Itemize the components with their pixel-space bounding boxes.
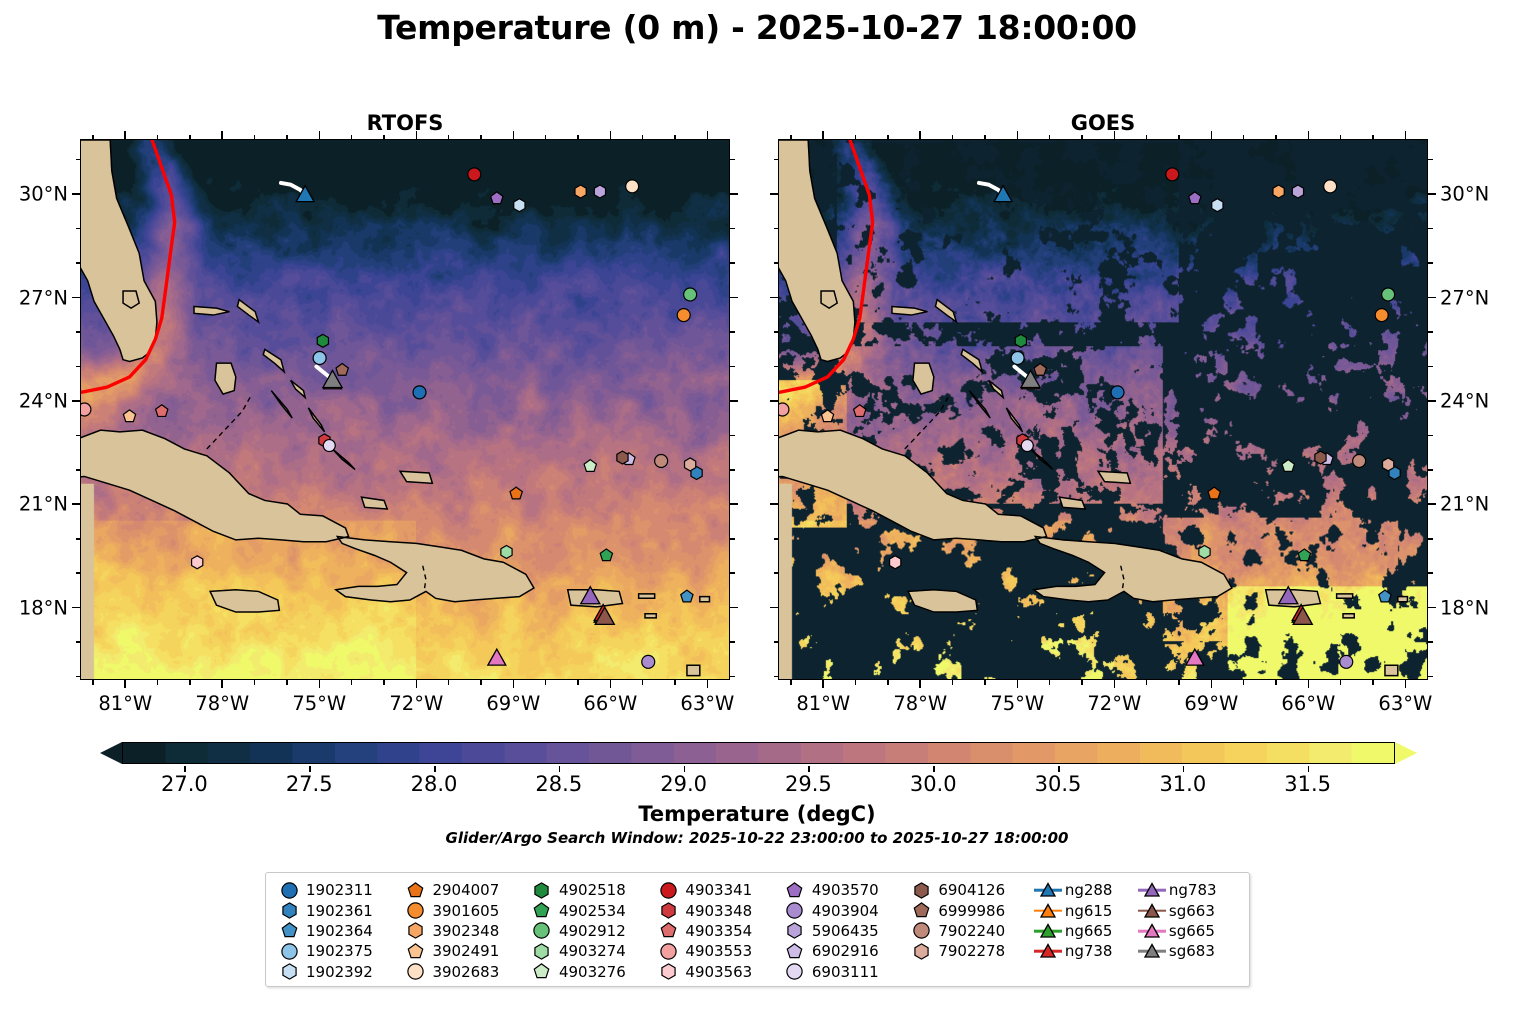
legend-item-1902361[interactable]: 1902361 <box>274 900 400 920</box>
legend-label-sg665: sg665 <box>1167 922 1215 940</box>
legend-column-argo-3: 49033414903348490335449035534903563 <box>653 880 779 982</box>
legend-label-ng783: ng783 <box>1167 881 1217 899</box>
triangle-marker-icon <box>1039 881 1057 899</box>
lat-tick-label-right: 21°N <box>1440 493 1489 516</box>
lon-tick <box>707 680 709 688</box>
argo-marker-4903563[interactable] <box>192 556 203 569</box>
legend-label-4903904: 4903904 <box>810 902 879 920</box>
lon-tick-top <box>642 135 644 140</box>
legend-label-1902392: 1902392 <box>304 963 373 981</box>
lat-tick-label-left: 18°N <box>0 596 68 619</box>
legend-symbol-1902311 <box>274 880 304 900</box>
legend-item-1902392[interactable]: 1902392 <box>274 962 400 982</box>
lat-tick-right <box>1428 572 1433 574</box>
argo-marker-6904126[interactable] <box>617 451 628 464</box>
circle-marker-icon <box>785 962 804 981</box>
legend-item-ng288[interactable]: ng288 <box>1033 880 1137 900</box>
colorbar-tick-label: 29.5 <box>785 772 832 796</box>
argo-marker-7902278[interactable] <box>1383 458 1394 471</box>
hexagon-marker-icon <box>659 901 678 920</box>
lon-tick <box>610 680 612 688</box>
lon-tick-top <box>286 135 288 140</box>
legend-label-6904126: 6904126 <box>936 881 1005 899</box>
legend-item-4903274[interactable]: 4903274 <box>527 941 653 961</box>
argo-marker-3902348[interactable] <box>575 185 586 198</box>
coastline-andros <box>913 363 934 394</box>
legend-symbol-5906435 <box>780 921 810 941</box>
argo-marker-4903904[interactable] <box>1340 655 1353 668</box>
legend-symbol-7902240 <box>906 921 936 941</box>
lat-tick <box>76 572 81 574</box>
argo-marker-4903570[interactable] <box>491 192 503 204</box>
legend-item-4903354[interactable]: 4903354 <box>653 921 779 941</box>
legend-column-argo-5: 6904126699998679022407902278 <box>906 880 1032 962</box>
coastline-exuma <box>271 391 292 418</box>
argo-marker-4903274[interactable] <box>1199 545 1210 558</box>
argo-marker-4903553[interactable] <box>779 403 789 416</box>
legend-item-sg665[interactable]: sg665 <box>1137 921 1241 941</box>
figure-title: Temperature (0 m) - 2025-10-27 18:00:00 <box>0 8 1514 47</box>
legend-item-4903904[interactable]: 4903904 <box>780 900 906 920</box>
lat-tick-right <box>1428 607 1436 609</box>
colorbar-tick-label: 30.0 <box>910 772 957 796</box>
argo-marker-4902912[interactable] <box>684 288 697 301</box>
lon-tick <box>480 680 482 685</box>
lon-tick-top <box>416 131 418 139</box>
legend-item-6902916[interactable]: 6902916 <box>780 941 906 961</box>
colorbar <box>100 740 1417 766</box>
legend-label-4903553: 4903553 <box>683 942 752 960</box>
argo-marker-3902348[interactable] <box>1273 185 1284 198</box>
legend-symbol-4903341 <box>653 880 683 900</box>
lon-tick <box>577 680 579 685</box>
legend-item-ng783[interactable]: ng783 <box>1137 880 1241 900</box>
triangle-marker-icon <box>1143 922 1161 940</box>
lon-tick <box>1146 680 1148 685</box>
coastline-grandbahama <box>194 306 229 315</box>
argo-marker-3902491[interactable] <box>123 410 135 422</box>
lat-tick <box>770 400 778 402</box>
lon-tick-top <box>855 135 857 140</box>
legend[interactable]: 1902311190236119023641902375190239229040… <box>265 872 1250 987</box>
legend-label-4903570: 4903570 <box>810 881 879 899</box>
lat-tick <box>770 193 778 195</box>
glider-marker-sg665[interactable] <box>1186 649 1204 665</box>
legend-symbol-4903563 <box>653 962 683 982</box>
coastline-inagua <box>1059 497 1085 509</box>
hexagon-marker-icon <box>659 962 678 981</box>
lon-tick <box>1372 680 1374 685</box>
lon-tick-top <box>448 135 450 140</box>
legend-label-sg683: sg683 <box>1167 942 1215 960</box>
coastline-vi <box>639 594 655 598</box>
argo-marker-1902392[interactable] <box>514 199 525 212</box>
lon-tick-top <box>189 135 191 140</box>
legend-label-6902916: 6902916 <box>810 942 879 960</box>
coastline-abaco <box>935 300 956 322</box>
lat-tick-label-left: 27°N <box>0 286 68 309</box>
lon-tick-label: 72°W <box>389 692 443 715</box>
legend-item-3902491[interactable]: 3902491 <box>400 941 526 961</box>
legend-symbol-6904126 <box>906 880 936 900</box>
argo-marker-4902912[interactable] <box>1382 288 1395 301</box>
legend-label-6903111: 6903111 <box>810 963 879 981</box>
argo-marker-7902278[interactable] <box>685 458 696 471</box>
legend-item-sg683[interactable]: sg683 <box>1137 941 1241 961</box>
argo-marker-1902311[interactable] <box>413 386 426 399</box>
pentagon-marker-icon <box>785 942 804 961</box>
legend-symbol-2904007 <box>400 880 430 900</box>
argo-marker-3902683[interactable] <box>626 180 639 193</box>
colorbar-tick-label: 28.0 <box>411 772 458 796</box>
legend-item-sg663[interactable]: sg663 <box>1137 900 1241 920</box>
lat-tick-right <box>730 676 735 678</box>
argo-marker-4903570[interactable] <box>1189 192 1201 204</box>
legend-symbol-4903274 <box>527 941 557 961</box>
legend-label-6999986: 6999986 <box>936 902 1005 920</box>
argo-marker-4903276[interactable] <box>1282 460 1294 472</box>
pentagon-marker-icon <box>912 901 931 920</box>
colorbar-tick-label: 27.0 <box>161 772 208 796</box>
legend-item-4902534[interactable]: 4902534 <box>527 900 653 920</box>
legend-label-4903276: 4903276 <box>557 963 626 981</box>
lon-tick-label: 69°W <box>1184 692 1238 715</box>
lat-tick-right <box>1428 297 1436 299</box>
legend-item-6999986[interactable]: 6999986 <box>906 900 1032 920</box>
pentagon-marker-icon <box>280 921 299 940</box>
lon-tick-top <box>221 131 223 139</box>
legend-symbol-4903354 <box>653 921 683 941</box>
lon-tick-top <box>383 135 385 140</box>
lat-tick <box>774 641 779 643</box>
hexagon-marker-icon <box>532 942 551 961</box>
legend-item-7902240[interactable]: 7902240 <box>906 921 1032 941</box>
circle-marker-icon <box>406 962 425 981</box>
legend-item-4903553[interactable]: 4903553 <box>653 941 779 961</box>
legend-label-1902364: 1902364 <box>304 922 373 940</box>
lon-tick-label: 66°W <box>1281 692 1335 715</box>
pentagon-marker-icon <box>785 881 804 900</box>
lat-tick <box>774 435 779 437</box>
argo-marker-5906435[interactable] <box>1292 185 1303 198</box>
colorbar-gradient <box>122 742 1395 764</box>
lon-tick-top <box>984 135 986 140</box>
triangle-marker-icon <box>1143 881 1161 899</box>
lat-tick-label-right: 18°N <box>1440 596 1489 619</box>
legend-item-3901605[interactable]: 3901605 <box>400 900 526 920</box>
lon-tick <box>319 680 321 688</box>
lat-tick <box>774 331 779 333</box>
lon-tick <box>286 680 288 685</box>
lat-tick-label-right: 30°N <box>1440 183 1489 206</box>
lon-tick-top <box>157 135 159 140</box>
lon-tick <box>1243 680 1245 685</box>
lon-tick-top <box>919 131 921 139</box>
argo-marker-7902240[interactable] <box>655 455 668 468</box>
colorbar-extend-max <box>1395 742 1417 764</box>
lat-tick-right <box>730 607 738 609</box>
lon-tick-top <box>1049 135 1051 140</box>
legend-item-4903341[interactable]: 4903341 <box>653 880 779 900</box>
circle-marker-icon <box>406 901 425 920</box>
colorbar-tick-label: 28.5 <box>535 772 582 796</box>
argo-marker-4903341[interactable] <box>1166 168 1179 181</box>
legend-item-ng665[interactable]: ng665 <box>1033 921 1137 941</box>
legend-item-4903570[interactable]: 4903570 <box>780 880 906 900</box>
legend-item-1902364[interactable]: 1902364 <box>274 921 400 941</box>
lon-tick-label: 78°W <box>893 692 947 715</box>
triangle-marker-icon <box>1039 902 1057 920</box>
legend-column-glider-1: ng783sg663sg665sg683 <box>1137 880 1241 962</box>
legend-item-4903563[interactable]: 4903563 <box>653 962 779 982</box>
circle-marker-icon <box>659 881 678 900</box>
lat-tick-right <box>730 297 738 299</box>
legend-symbol-1902364 <box>274 921 304 941</box>
hexagon-marker-icon <box>912 881 931 900</box>
lon-tick-top <box>1243 135 1245 140</box>
glider-marker-sg665[interactable] <box>488 649 506 665</box>
lat-tick-right <box>730 641 735 643</box>
argo-marker-1902375[interactable] <box>1011 352 1024 365</box>
lon-tick <box>822 680 824 688</box>
lat-tick <box>76 366 81 368</box>
argo-marker-2904007[interactable] <box>510 487 522 499</box>
legend-symbol-1902361 <box>274 901 304 921</box>
coastline-guadeloupe <box>1385 665 1398 675</box>
colorbar-tick-label: 31.5 <box>1284 772 1331 796</box>
search-window-text: Glider/Argo Search Window: 2025-10-22 23… <box>0 829 1514 847</box>
lat-tick <box>72 400 80 402</box>
argo-marker-1902364[interactable] <box>681 590 693 602</box>
lat-tick-label-right: 27°N <box>1440 286 1489 309</box>
legend-item-4902518[interactable]: 4902518 <box>527 880 653 900</box>
lon-tick <box>189 680 191 685</box>
lon-tick-top <box>952 135 954 140</box>
argo-marker-2904007[interactable] <box>1208 487 1220 499</box>
lat-tick <box>770 503 778 505</box>
lon-tick-label: 75°W <box>292 692 346 715</box>
argo-marker-4903276[interactable] <box>584 460 596 472</box>
argo-marker-6903111[interactable] <box>323 440 335 452</box>
pentagon-marker-icon <box>532 901 551 920</box>
lon-tick <box>887 680 889 685</box>
lon-tick-top <box>1017 131 1019 139</box>
circle-marker-icon <box>785 901 804 920</box>
lon-tick <box>1081 680 1083 685</box>
argo-marker-1902392[interactable] <box>1212 199 1223 212</box>
lat-tick-right <box>730 366 735 368</box>
argo-marker-3902491[interactable] <box>821 410 833 422</box>
lat-tick-right <box>1428 641 1433 643</box>
lat-tick <box>76 641 81 643</box>
triangle-marker-icon <box>1039 922 1057 940</box>
coastline-abaco <box>237 300 258 322</box>
legend-label-5906435: 5906435 <box>810 922 879 940</box>
argo-marker-4903553[interactable] <box>81 403 91 416</box>
legend-label-4902518: 4902518 <box>557 881 626 899</box>
legend-item-6904126[interactable]: 6904126 <box>906 880 1032 900</box>
legend-item-ng738[interactable]: ng738 <box>1033 941 1137 961</box>
legend-label-4903274: 4903274 <box>557 942 626 960</box>
lon-tick-label: 63°W <box>680 692 734 715</box>
coastline-eleuthera <box>961 349 982 371</box>
lon-tick-label: 72°W <box>1087 692 1141 715</box>
circle-marker-icon <box>280 942 299 961</box>
lat-tick <box>770 607 778 609</box>
legend-symbol-1902392 <box>274 962 304 982</box>
argo-marker-4902534[interactable] <box>600 549 612 561</box>
lon-tick <box>92 680 94 685</box>
legend-item-2904007[interactable]: 2904007 <box>400 880 526 900</box>
coastline-okeechobee <box>821 291 837 308</box>
legend-item-5906435[interactable]: 5906435 <box>780 921 906 941</box>
legend-symbol-ng615 <box>1033 901 1063 921</box>
legend-item-4902912[interactable]: 4902912 <box>527 921 653 941</box>
coastline-grandbahama <box>892 306 927 315</box>
coastline-acklins <box>332 449 355 470</box>
lon-tick-top <box>319 131 321 139</box>
lon-tick-top <box>1275 135 1277 140</box>
hexagon-marker-icon <box>280 901 299 920</box>
legend-item-3902683[interactable]: 3902683 <box>400 962 526 982</box>
lon-tick <box>1049 680 1051 685</box>
legend-label-7902240: 7902240 <box>936 922 1005 940</box>
argo-marker-1902375[interactable] <box>313 352 326 365</box>
coastline-anguilla <box>700 597 710 602</box>
legend-symbol-sg663 <box>1137 901 1167 921</box>
legend-symbol-6903111 <box>780 962 810 982</box>
panel-title-rtofs: RTOFS <box>80 111 730 135</box>
legend-item-1902375[interactable]: 1902375 <box>274 941 400 961</box>
lat-tick-right <box>1428 676 1433 678</box>
lon-tick-top <box>610 131 612 139</box>
lat-tick-right <box>730 193 738 195</box>
map-panel-goes[interactable] <box>778 139 1428 680</box>
argo-marker-4903274[interactable] <box>501 545 512 558</box>
lat-tick-right <box>1428 331 1433 333</box>
lon-tick <box>1275 680 1277 685</box>
argo-marker-6903111[interactable] <box>1021 440 1033 452</box>
argo-marker-4903904[interactable] <box>642 655 655 668</box>
lat-tick-right <box>730 400 738 402</box>
coastline-cat <box>989 380 1004 397</box>
lat-tick-label-left: 24°N <box>0 389 68 412</box>
coastline-caicos <box>1098 471 1130 483</box>
lon-tick <box>1017 680 1019 688</box>
argo-marker-3901605[interactable] <box>677 309 690 322</box>
legend-item-4903348[interactable]: 4903348 <box>653 900 779 920</box>
lon-tick-top <box>92 135 94 140</box>
argo-marker-7902240[interactable] <box>1353 455 1366 468</box>
argo-marker-4902534[interactable] <box>1298 549 1310 561</box>
triangle-marker-icon <box>1039 942 1057 960</box>
lon-tick-top <box>1211 131 1213 139</box>
coastline-cat <box>291 380 306 397</box>
hexagon-marker-icon <box>406 921 425 940</box>
legend-column-argo-2: 49025184902534490291249032744903276 <box>527 880 653 982</box>
legend-item-3902348[interactable]: 3902348 <box>400 921 526 941</box>
legend-label-3901605: 3901605 <box>430 902 499 920</box>
lat-tick-right <box>730 159 735 161</box>
argo-marker-1902364[interactable] <box>1379 590 1391 602</box>
legend-item-4903276[interactable]: 4903276 <box>527 962 653 982</box>
legend-item-1902311[interactable]: 1902311 <box>274 880 400 900</box>
lon-tick-top <box>1114 131 1116 139</box>
lat-tick <box>774 228 779 230</box>
lat-tick-right <box>1428 469 1433 471</box>
rtofs-overlay <box>81 140 729 679</box>
argo-marker-4903354[interactable] <box>156 405 168 417</box>
coastline-longisl <box>308 408 324 432</box>
legend-item-6903111[interactable]: 6903111 <box>780 962 906 982</box>
legend-item-ng615[interactable]: ng615 <box>1033 900 1137 920</box>
lat-tick <box>72 503 80 505</box>
colorbar-extend-min <box>100 742 122 764</box>
lat-tick-label-right: 24°N <box>1440 389 1489 412</box>
argo-marker-4902518[interactable] <box>1015 334 1026 347</box>
lon-tick-label: 81°W <box>796 692 850 715</box>
coastline-inagua <box>361 497 387 509</box>
lon-tick-top <box>480 135 482 140</box>
coastline-jamaica <box>908 590 977 612</box>
argo-marker-6904126[interactable] <box>1315 451 1326 464</box>
argo-marker-6999986[interactable] <box>336 364 348 376</box>
map-panel-rtofs[interactable] <box>80 139 730 680</box>
argo-marker-4903563[interactable] <box>890 556 901 569</box>
legend-symbol-3902348 <box>400 921 430 941</box>
legend-label-ng288: ng288 <box>1063 881 1113 899</box>
lat-tick <box>774 572 779 574</box>
argo-marker-1902311[interactable] <box>1111 386 1124 399</box>
lat-tick-right <box>1428 262 1433 264</box>
legend-item-7902278[interactable]: 7902278 <box>906 941 1032 961</box>
lat-tick-right <box>1428 193 1436 195</box>
argo-marker-6999986[interactable] <box>1034 364 1046 376</box>
lat-tick <box>76 228 81 230</box>
lon-tick-top <box>1340 135 1342 140</box>
argo-marker-4903341[interactable] <box>468 168 481 181</box>
legend-label-1902361: 1902361 <box>304 902 373 920</box>
lon-tick <box>383 680 385 685</box>
lon-tick-top <box>254 135 256 140</box>
coastline-cuba <box>81 430 349 542</box>
lon-tick <box>157 680 159 685</box>
gulf-stream-contour <box>81 140 174 392</box>
lon-tick <box>642 680 644 685</box>
lon-tick <box>952 680 954 685</box>
legend-column-glider-0: ng288ng615ng665ng738 <box>1033 880 1137 962</box>
legend-label-3902683: 3902683 <box>430 963 499 981</box>
argo-marker-5906435[interactable] <box>594 185 605 198</box>
lat-tick <box>774 538 779 540</box>
argo-marker-3901605[interactable] <box>1375 309 1388 322</box>
legend-symbol-4902534 <box>527 901 557 921</box>
coastline-anguilla <box>1398 597 1408 602</box>
panel-title-goes: GOES <box>778 111 1428 135</box>
lat-tick <box>774 262 779 264</box>
lon-tick-label: 66°W <box>583 692 637 715</box>
legend-label-1902311: 1902311 <box>304 881 373 899</box>
coastline-florida <box>779 140 855 361</box>
argo-marker-3902683[interactable] <box>1324 180 1337 193</box>
lon-tick <box>1211 680 1213 688</box>
coastline-florida <box>81 140 157 361</box>
colorbar-label: Temperature (degC) <box>0 802 1514 826</box>
argo-marker-4902518[interactable] <box>317 334 328 347</box>
argo-marker-4903354[interactable] <box>854 405 866 417</box>
coastline-stcroix <box>1343 614 1354 618</box>
border-line-0 <box>207 394 252 449</box>
